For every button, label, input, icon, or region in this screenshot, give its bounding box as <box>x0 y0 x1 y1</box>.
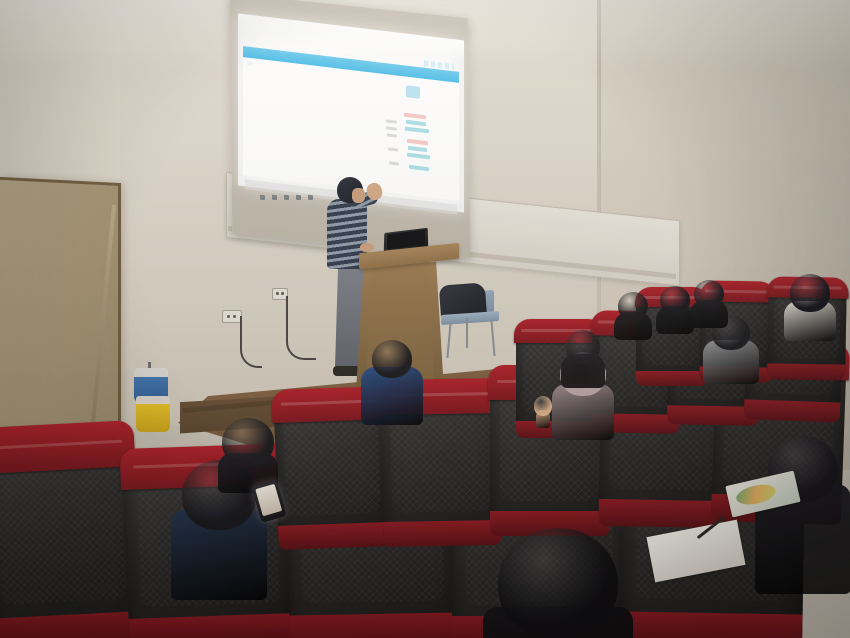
seat-base-trim <box>289 613 458 638</box>
audience-head <box>498 528 618 638</box>
taskbar-icon <box>296 195 301 201</box>
seat-base-trim <box>636 371 708 386</box>
projected-page-icon <box>406 85 420 99</box>
wall-outlet[interactable] <box>222 310 242 323</box>
lecture-hall-photo <box>0 0 850 638</box>
audience-head <box>222 418 274 466</box>
seat-base-trim <box>744 400 841 423</box>
taskbar-icon <box>284 195 289 201</box>
projected-browser-logo-icon <box>247 61 252 66</box>
seat-mesh <box>0 452 127 605</box>
presenter-face <box>352 188 365 203</box>
audience-head <box>534 396 552 416</box>
yellow-paint-bucket <box>136 396 170 432</box>
audience-head <box>372 340 412 378</box>
audience-head <box>660 286 690 314</box>
seat-base-trim <box>383 520 501 547</box>
audience-head <box>618 292 648 320</box>
seat-base-trim <box>767 364 845 381</box>
power-cable <box>240 316 262 368</box>
seat-base-trim <box>598 499 722 527</box>
taskbar-icon <box>260 195 265 201</box>
taskbar-icon <box>308 195 313 201</box>
presenter-hand-on-podium <box>360 243 374 252</box>
audience-head <box>694 280 724 308</box>
seat-base-trim <box>278 522 391 550</box>
power-cable <box>286 296 316 360</box>
audience-head <box>566 330 600 364</box>
audience-head <box>790 274 830 312</box>
seat-base-trim <box>620 611 803 638</box>
chair-leg <box>466 318 468 348</box>
smartphone-screen <box>255 484 282 516</box>
taskbar-icon <box>272 195 277 201</box>
book-cover-graphic <box>734 481 777 508</box>
